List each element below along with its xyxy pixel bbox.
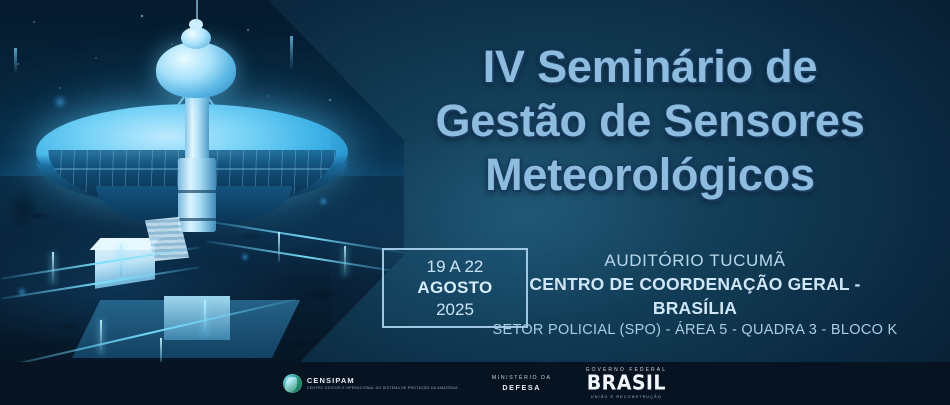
- light-orb: [318, 196, 329, 207]
- governo-tagline: UNIÃO E RECONSTRUÇÃO: [591, 396, 662, 400]
- tree-silhouette: [6, 186, 40, 226]
- censipam-text: CENSIPAM CENTRO GESTOR E OPERACIONAL DO …: [307, 377, 458, 390]
- censipam-subtitle: CENTRO GESTOR E OPERACIONAL DO SISTEMA D…: [307, 387, 458, 390]
- feed-horn: [156, 42, 236, 98]
- fence-post: [100, 320, 102, 354]
- title-line-1: IV Seminário de: [380, 40, 920, 94]
- date-year: 2025: [436, 299, 474, 321]
- ministerio-line-2: DEFESA: [502, 384, 541, 391]
- date-range: 19 A 22: [427, 256, 484, 277]
- page-title: IV Seminário de Gestão de Sensores Meteo…: [380, 40, 920, 202]
- light-orb: [240, 252, 250, 262]
- feed-cap: [181, 27, 211, 49]
- distant-tower-icon: [290, 36, 293, 70]
- venue-block: AUDITÓRIO TUCUMÃ CENTRO DE COORDENAÇÃO G…: [485, 250, 905, 340]
- date-month: AGOSTO: [417, 277, 492, 299]
- footer-logo-bar: CENSIPAM CENTRO GESTOR E OPERACIONAL DO …: [0, 362, 950, 405]
- censipam-name: CENSIPAM: [307, 377, 458, 385]
- logo-ministerio-defesa: MINISTÉRIO DA DEFESA: [492, 376, 552, 391]
- fence-post: [344, 246, 346, 276]
- fence-post: [380, 330, 382, 356]
- venue-center: CENTRO DE COORDENAÇÃO GERAL - BRASÍLIA: [485, 272, 905, 320]
- fence-post: [120, 244, 122, 276]
- distant-tower-icon: [358, 44, 361, 68]
- overhead-cable: [196, 0, 198, 22]
- logo-censipam: CENSIPAM CENTRO GESTOR E OPERACIONAL DO …: [283, 374, 458, 393]
- light-orb: [52, 94, 68, 110]
- venue-auditorium: AUDITÓRIO TUCUMÃ: [485, 250, 905, 272]
- title-line-2: Gestão de Sensores: [380, 94, 920, 148]
- distant-tower-icon: [14, 48, 17, 74]
- satellite-dish-photo: [0, 0, 404, 362]
- ministerio-line-1: MINISTÉRIO DA: [492, 376, 552, 381]
- fence-post: [204, 300, 206, 336]
- event-banner: IV Seminário de Gestão de Sensores Meteo…: [0, 0, 950, 405]
- title-line-3: Meteorológicos: [380, 148, 920, 202]
- brasil-wordmark: BRASIL: [587, 373, 666, 394]
- fence-post: [160, 338, 162, 362]
- fence-post: [278, 232, 280, 262]
- globe-icon: [283, 374, 302, 393]
- logo-governo-federal: GOVERNO FEDERAL BRASIL UNIÃO E RECONSTRU…: [586, 368, 668, 400]
- venue-address: SETOR POLICIAL (SPO) - ÁREA 5 - QUADRA 3…: [485, 320, 905, 340]
- fence-post: [52, 252, 54, 284]
- pedestal-band: [178, 190, 216, 193]
- base-block: [164, 296, 230, 340]
